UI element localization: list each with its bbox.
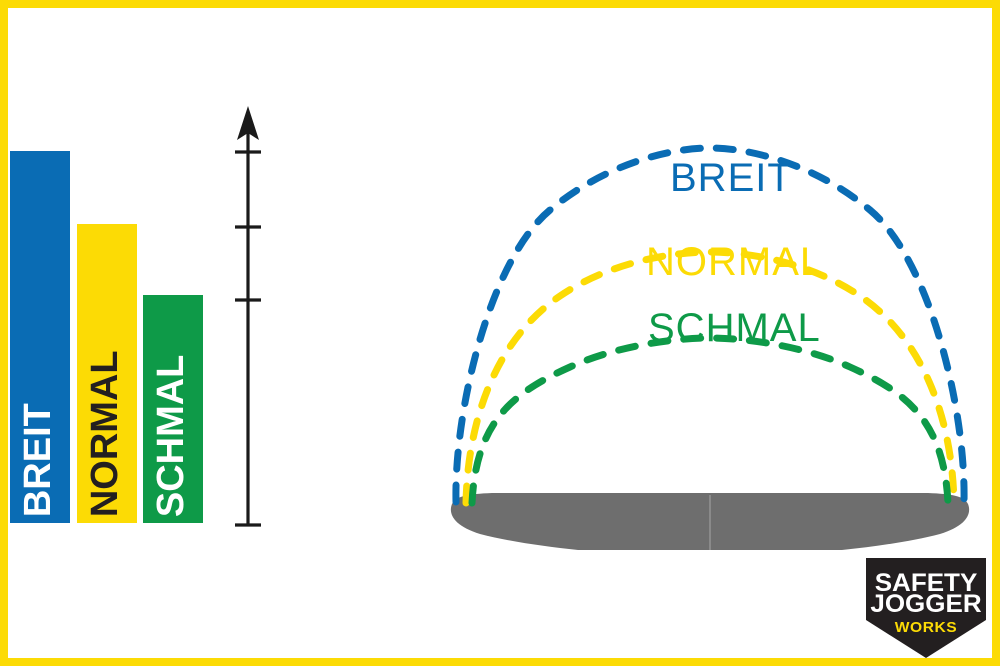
curve-label-breit: BREIT	[670, 158, 793, 198]
bar-schmal-label-wrap: SCHMAL	[143, 307, 203, 517]
bar-breit-label-wrap: BREIT	[10, 307, 70, 517]
safety-jogger-logo: SAFETY JOGGER WORKS	[866, 558, 986, 658]
infographic-canvas: BREIT NORMAL SCHMAL	[0, 0, 1000, 666]
shoe-sole	[451, 493, 969, 550]
bar-label-text: NORMAL	[90, 350, 121, 517]
axis-arrow	[228, 100, 272, 540]
logo-line-works: WORKS	[864, 620, 989, 635]
bar-normal: NORMAL	[77, 224, 137, 523]
bar-normal-label-wrap: NORMAL	[77, 307, 137, 517]
logo-line-jogger: JOGGER	[864, 592, 989, 617]
curve-normal	[466, 252, 954, 503]
bar-schmal: SCHMAL	[143, 295, 203, 523]
axis-arrow-svg	[228, 100, 272, 540]
curve-label-schmal: SCHMAL	[648, 308, 821, 348]
bar-breit: BREIT	[10, 151, 70, 523]
curve-label-normal: NORMAL	[646, 242, 823, 282]
width-profile-panel: BREIT NORMAL SCHMAL	[420, 110, 1000, 550]
curve-schmal	[472, 338, 948, 503]
bar-label-text: BREIT	[23, 403, 54, 517]
bar-label-text: SCHMAL	[156, 354, 187, 517]
